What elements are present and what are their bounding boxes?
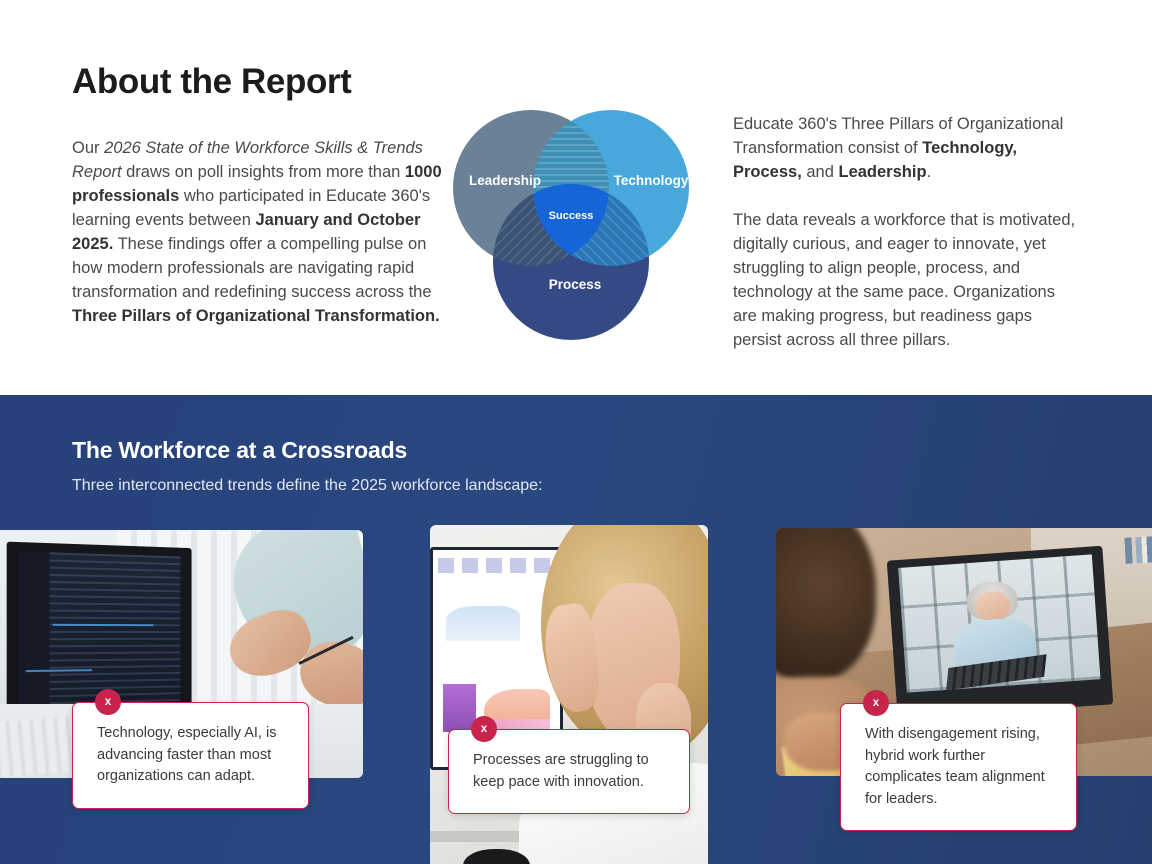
callout-leadership: x With disengagement rising, hybrid work… bbox=[840, 703, 1077, 831]
left-run-1: Our bbox=[72, 139, 104, 157]
pillar-leadership: Leadership bbox=[839, 163, 927, 181]
callout-process-text: Processes are struggling to keep pace wi… bbox=[473, 752, 649, 790]
three-pillars-phrase: Three Pillars of Organizational Transfor… bbox=[72, 307, 440, 325]
right-run-3: and bbox=[802, 163, 839, 181]
about-section: About the Report Our 2026 State of the W… bbox=[0, 0, 1152, 395]
about-right-paragraph-2: The data reveals a workforce that is mot… bbox=[733, 208, 1083, 352]
venn-label-technology: Technology bbox=[614, 173, 689, 188]
about-right-column: Educate 360's Three Pillars of Organizat… bbox=[733, 112, 1083, 352]
slide-root: About the Report Our 2026 State of the W… bbox=[0, 0, 1152, 864]
venn-label-process: Process bbox=[549, 277, 602, 292]
left-run-7: These findings offer a compelling pulse … bbox=[72, 235, 432, 301]
close-icon[interactable]: x bbox=[95, 689, 121, 715]
venn-label-success: Success bbox=[549, 210, 594, 222]
close-icon[interactable]: x bbox=[863, 690, 889, 716]
callout-technology-text: Technology, especially AI, is advancing … bbox=[97, 725, 276, 784]
left-run-3: draws on poll insights from more than bbox=[122, 163, 405, 181]
close-icon[interactable]: x bbox=[471, 716, 497, 742]
section-subtitle: Three interconnected trends define the 2… bbox=[72, 477, 543, 495]
section-title: The Workforce at a Crossroads bbox=[72, 437, 407, 464]
venn-svg: Leadership Technology Process Success bbox=[447, 106, 695, 348]
about-left-paragraph: Our 2026 State of the Workforce Skills &… bbox=[72, 136, 444, 328]
page-title: About the Report bbox=[72, 62, 351, 102]
right-run-5: . bbox=[927, 163, 932, 181]
callout-technology: x Technology, especially AI, is advancin… bbox=[72, 702, 309, 809]
callout-leadership-text: With disengagement rising, hybrid work f… bbox=[865, 726, 1045, 807]
callout-process: x Processes are struggling to keep pace … bbox=[448, 729, 690, 814]
about-right-paragraph-1: Educate 360's Three Pillars of Organizat… bbox=[733, 112, 1083, 184]
three-pillars-venn-diagram: Leadership Technology Process Success bbox=[447, 106, 695, 348]
venn-label-leadership: Leadership bbox=[469, 173, 541, 188]
